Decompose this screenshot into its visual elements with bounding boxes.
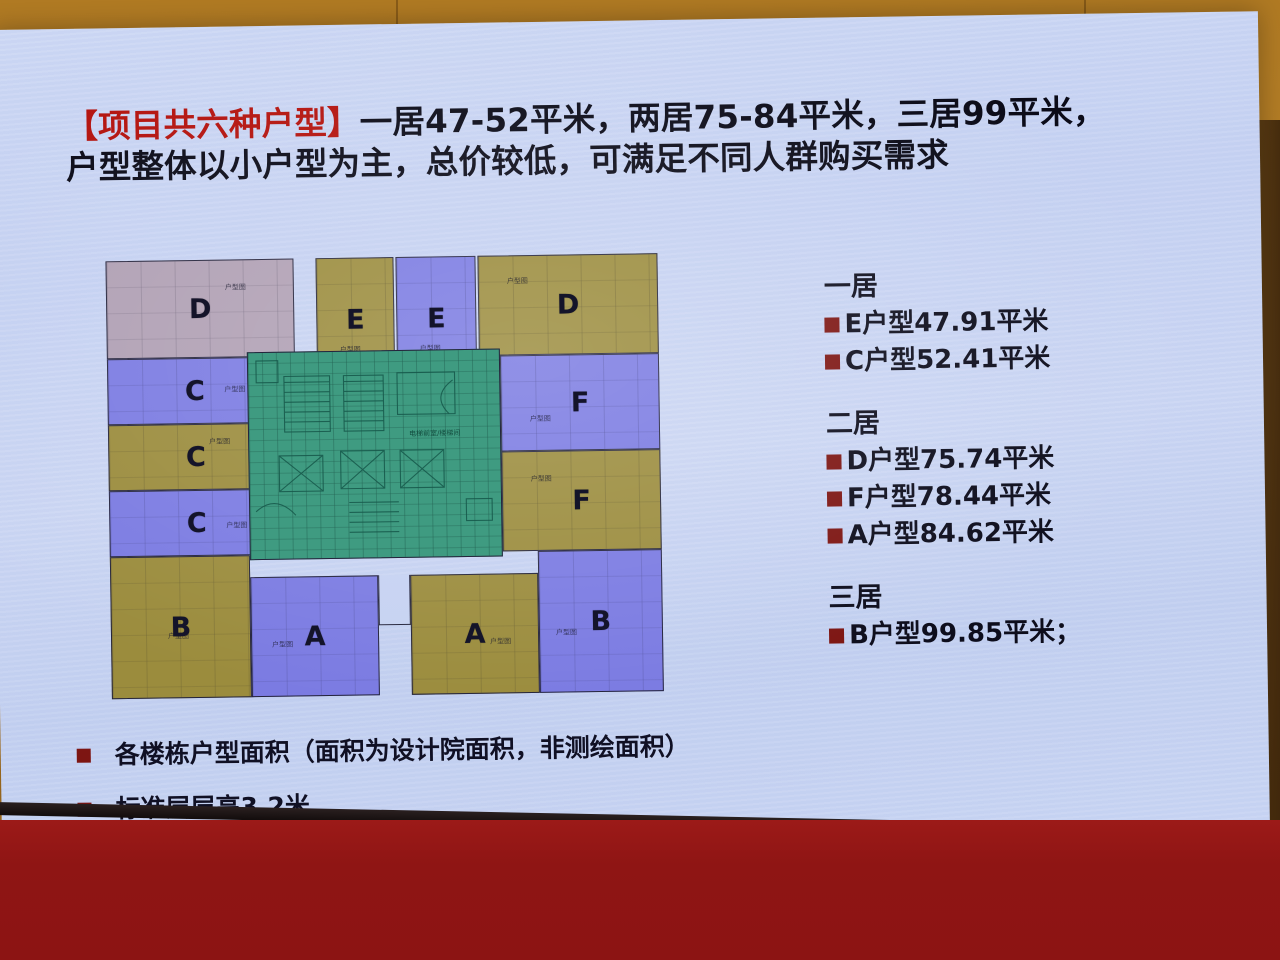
unit-f-right-2[interactable]: 户型图 F [501,449,661,551]
unit-a-bottom-left[interactable]: 户型图 A [250,575,380,697]
unit-note: 户型图 [272,640,293,650]
unit-note: 户型图 [556,627,577,637]
slide-title: 【项目共六种户型】一居47-52平米，两居75-84平米，三居99平米， 户型整… [65,90,1216,189]
bullet-square-icon [824,317,839,332]
floor-plan-diagram: 户型图 D 户型图 E 户型图 E 户型图 D [105,253,663,699]
unit-note: 户型图 [531,474,552,484]
unit-label: D [189,293,212,324]
unit-a-bottom-right[interactable]: 户型图 A [410,573,540,695]
legend-item[interactable]: A户型84.62平米 [827,512,1208,555]
unit-note: 户型图 [209,436,230,446]
unit-label: B [590,605,611,636]
unit-d-topleft[interactable]: 户型图 D [105,259,294,360]
legend-item[interactable]: D户型75.74平米 [826,438,1207,481]
legend-heading: 三居 [828,575,1208,617]
unit-b-bottomleft[interactable]: 户型图 B [110,555,252,699]
photo-scene: 【项目共六种户型】一居47-52平米，两居75-84平米，三居99平米， 户型整… [0,0,1280,960]
unit-label: C [185,375,205,406]
unit-label: A [464,618,485,649]
unit-note: 户型图 [225,282,246,292]
unit-type-legend: 一居 E户型47.91平米 C户型52.41平米 二居 D户型75.74平米 [824,264,1210,681]
core-linework [248,349,502,559]
legend-item[interactable]: B户型99.85平米； [829,612,1210,655]
stage-wall [0,820,1280,960]
legend-item-label: F户型78.44平米 [847,477,1052,517]
unit-f-right-1[interactable]: 户型图 F [500,353,660,451]
legend-item-label: E户型47.91平米 [844,303,1049,343]
legend-item-label: A户型84.62平米 [847,514,1054,554]
unit-d-topright[interactable]: 户型图 D [477,253,658,356]
unit-label: E [346,304,365,335]
bullet-square-icon [826,454,841,469]
unit-label: D [557,289,580,320]
unit-note: 户型图 [490,636,511,646]
circulation-core[interactable]: 电梯前室/楼梯间 [247,348,503,560]
note-text: 各楼栋户型面积（面积为设计院面积，非测绘面积） [114,720,690,783]
legend-item[interactable]: E户型47.91平米 [824,301,1205,344]
unit-label: A [304,621,325,652]
bullet-square-icon [827,528,842,543]
legend-group-two-bedroom: 二居 D户型75.74平米 F户型78.44平米 A户型84.62平米 [826,401,1208,555]
unit-label: F [571,387,590,418]
legend-item-label: D户型75.74平米 [846,440,1054,480]
unit-label: C [187,507,207,538]
title-highlight: 【项目共六种户型】 [65,104,360,146]
legend-heading: 二居 [826,401,1206,443]
unit-label: B [170,612,191,643]
legend-heading: 一居 [824,264,1204,306]
bullet-square-icon [827,491,842,506]
unit-label: E [427,303,446,334]
notch-void [378,575,411,625]
presentation-slide: 【项目共六种户型】一居47-52平米，两居75-84平米，三居99平米， 户型整… [0,11,1270,860]
bullet-square-icon [829,628,844,643]
legend-group-one-bedroom: 一居 E户型47.91平米 C户型52.41平米 [824,264,1206,381]
legend-group-three-bedroom: 三居 B户型99.85平米； [828,575,1209,655]
unit-label: C [186,441,206,472]
unit-note: 户型图 [530,414,551,424]
legend-item-label: C户型52.41平米 [845,340,1051,380]
unit-label: F [572,485,591,516]
legend-item[interactable]: F户型78.44平米 [827,475,1208,518]
unit-note: 户型图 [507,276,528,286]
unit-note: 户型图 [224,384,245,394]
legend-item-label: B户型99.85平米； [849,614,1082,654]
unit-note: 户型图 [226,520,247,530]
core-note: 电梯前室/楼梯间 [409,428,461,439]
projector-screen: 【项目共六种户型】一居47-52平米，两居75-84平米，三居99平米， 户型整… [0,11,1270,860]
legend-item[interactable]: C户型52.41平米 [825,338,1206,381]
bullet-square-icon [825,354,840,369]
bullet-square-icon [77,749,91,763]
unit-b-bottomright[interactable]: 户型图 B [538,549,664,693]
